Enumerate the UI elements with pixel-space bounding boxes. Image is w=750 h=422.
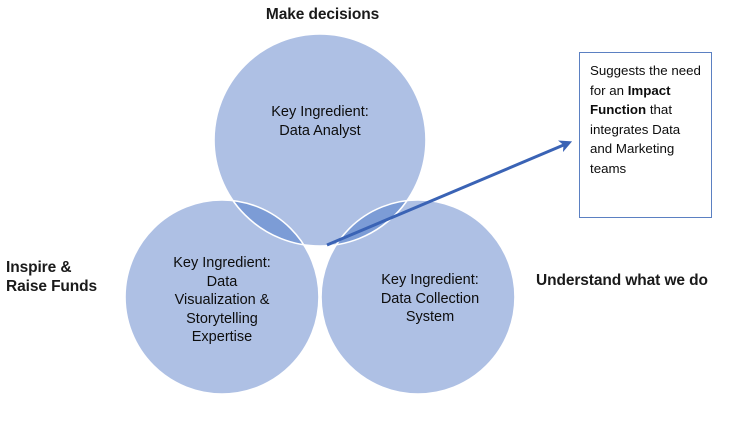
circle-label-data-analyst: Key Ingredient: Data Analyst: [215, 103, 425, 140]
venn-diagram-canvas: Make decisions Inspire & Raise Funds Und…: [0, 0, 750, 422]
circle-label-data-collection: Key Ingredient: Data Collection System: [345, 271, 515, 327]
callout-text: Suggests the need for an Impact Function…: [590, 61, 706, 178]
caption-inspire-raise-funds: Inspire & Raise Funds: [6, 259, 116, 297]
caption-understand-what-we-do: Understand what we do: [536, 272, 746, 291]
impact-function-callout-box: Suggests the need for an Impact Function…: [579, 52, 712, 218]
caption-make-decisions: Make decisions: [0, 6, 645, 25]
circle-label-data-visualization: Key Ingredient: Data Visualization & Sto…: [135, 254, 309, 347]
